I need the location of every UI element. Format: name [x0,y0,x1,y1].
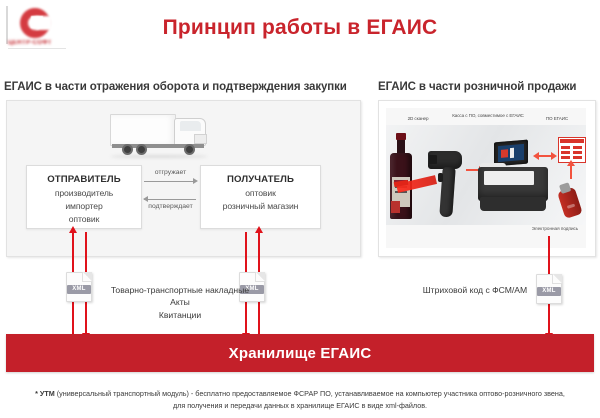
egais-storage-banner: Хранилище ЕГАИС [6,334,594,372]
arrow-cash-to-software-icon [538,155,552,157]
xml-label: XML [67,285,91,294]
software-icon-cell [561,151,570,154]
receiver-line: розничный магазин [201,201,320,211]
truck-shadow [110,155,208,158]
truck-wheel [122,144,133,155]
scanner-trigger [438,173,443,182]
register-screen [498,144,524,162]
screen-block [510,148,514,158]
logo-wordmark: ЦЕНТР-СОФТ [8,40,52,46]
documents-caption: Товарно-транспортные накладные Акты Квит… [90,284,270,321]
software-icon-cell [573,151,582,154]
arrow-token-to-software-icon [570,165,572,179]
barcode-caption: Штриховой код с ФСМ/АМ [400,284,550,296]
truck-icon [110,108,220,160]
receiver-box: ПОЛУЧАТЕЛЬ оптовик розничный магазин [200,165,321,229]
confirm-arrow-line [144,199,196,200]
scanner-window [429,155,437,164]
software-icon-cell [561,146,570,149]
software-icon-cell [561,156,570,159]
retail-illustration [386,125,586,225]
screen-block [501,149,508,158]
label-egais-software: ПО ЕГАИС [528,116,586,122]
truck-grill [194,134,207,144]
sender-box: ОТПРАВИТЕЛЬ производитель импортер оптов… [26,165,142,229]
register-base [480,197,546,211]
software-icon-cell [573,156,582,159]
excise-stamp [391,201,400,213]
receiver-title: ПОЛУЧАТЕЛЬ [201,174,320,185]
truck-body [110,114,176,146]
xml-fold-corner [82,272,92,282]
footnote-text: (универсальный транспортный модуль) - бе… [55,389,565,410]
bottle-cap [396,133,406,140]
exchange-arrows: отгружает подтверждает [142,168,199,224]
xml-fold-corner [552,274,562,284]
egais-storage-label: Хранилище ЕГАИС [229,345,372,362]
barcode-scanner-icon [428,151,462,217]
ship-arrow-head-icon [193,178,198,184]
software-icon-header [560,139,584,143]
label-electronic-signature: Электронная подпись [524,226,586,232]
footnote-marker: * УТМ [35,389,55,398]
documents-caption-line: Акты [90,296,270,308]
section-header-left: ЕГАИС в части отражения оборота и подтве… [4,81,347,93]
documents-caption-line: Товарно-транспортные накладные [90,284,270,296]
sender-line: импортер [27,201,141,211]
ship-arrow-line [144,181,196,182]
sender-line: оптовик [27,214,141,224]
label-cash-register: Касса с ПО, совместимое с ЕГАИС [452,113,524,119]
ship-arrow-label: отгружает [142,169,199,176]
software-icon-cell [573,146,582,149]
slide-root: ЦЕНТР-СОФТ Принцип работы в ЕГАИС ЕГАИС … [0,0,600,418]
label-2d-scanner: 2D сканер [388,116,448,122]
bottle-icon [390,133,412,219]
logo-underline [8,48,66,49]
truck-window [180,121,201,131]
truck-wheel [136,144,147,155]
section-header-right: ЕГАИС в части розничной продажи [378,81,576,93]
sender-line: производитель [27,188,141,198]
confirm-arrow-head-icon [143,196,148,202]
register-drawer-face [484,171,534,185]
confirm-arrow-label: подтверждает [142,203,199,210]
page-title: Принцип работы в ЕГАИС [0,16,600,40]
xml-fold-corner [255,272,265,282]
footnote: * УТМ (универсальный транспортный модуль… [30,388,570,411]
xml-file-badge-sender: XML [66,272,92,302]
receiver-line: оптовик [201,188,320,198]
documents-caption-line: Квитанции [90,309,270,321]
sender-title: ОТПРАВИТЕЛЬ [27,174,141,185]
truck-wheel [184,144,195,155]
register-drawer [478,167,548,201]
